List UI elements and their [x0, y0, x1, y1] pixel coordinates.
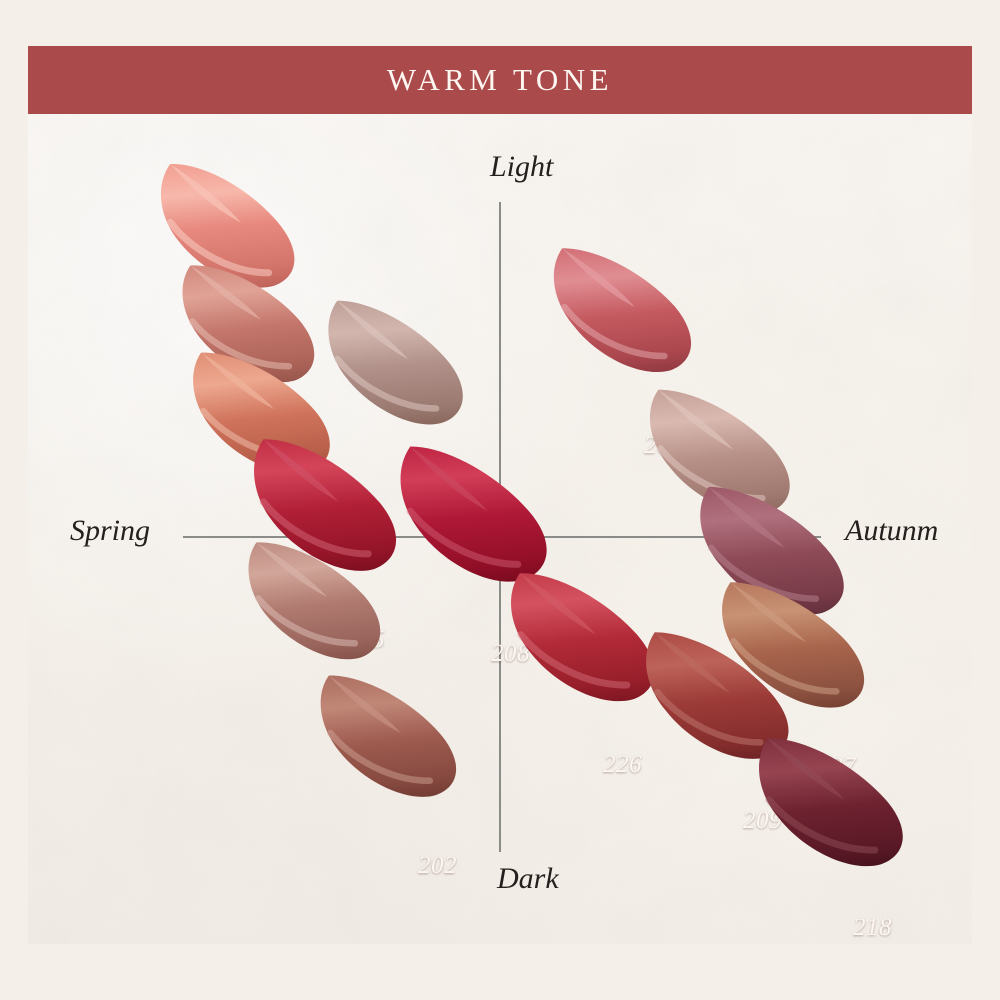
axis-label-light: Light — [490, 150, 553, 184]
swatch-206[interactable] — [522, 232, 721, 394]
swatch-label-202: 202 — [418, 852, 457, 880]
chart-canvas: Light Dark Spring Autunm — [28, 114, 972, 944]
poster-page: WARM TONE — [0, 0, 1000, 1000]
header-banner: WARM TONE — [28, 46, 972, 114]
swatch-202[interactable] — [290, 659, 487, 819]
swatch-218[interactable] — [726, 720, 934, 889]
swatch-label-226: 226 — [603, 751, 642, 779]
axis-label-dark: Dark — [497, 862, 559, 896]
swatch-label-218: 218 — [853, 914, 892, 942]
page-title: WARM TONE — [387, 62, 613, 98]
axis-label-spring: Spring — [70, 514, 150, 548]
